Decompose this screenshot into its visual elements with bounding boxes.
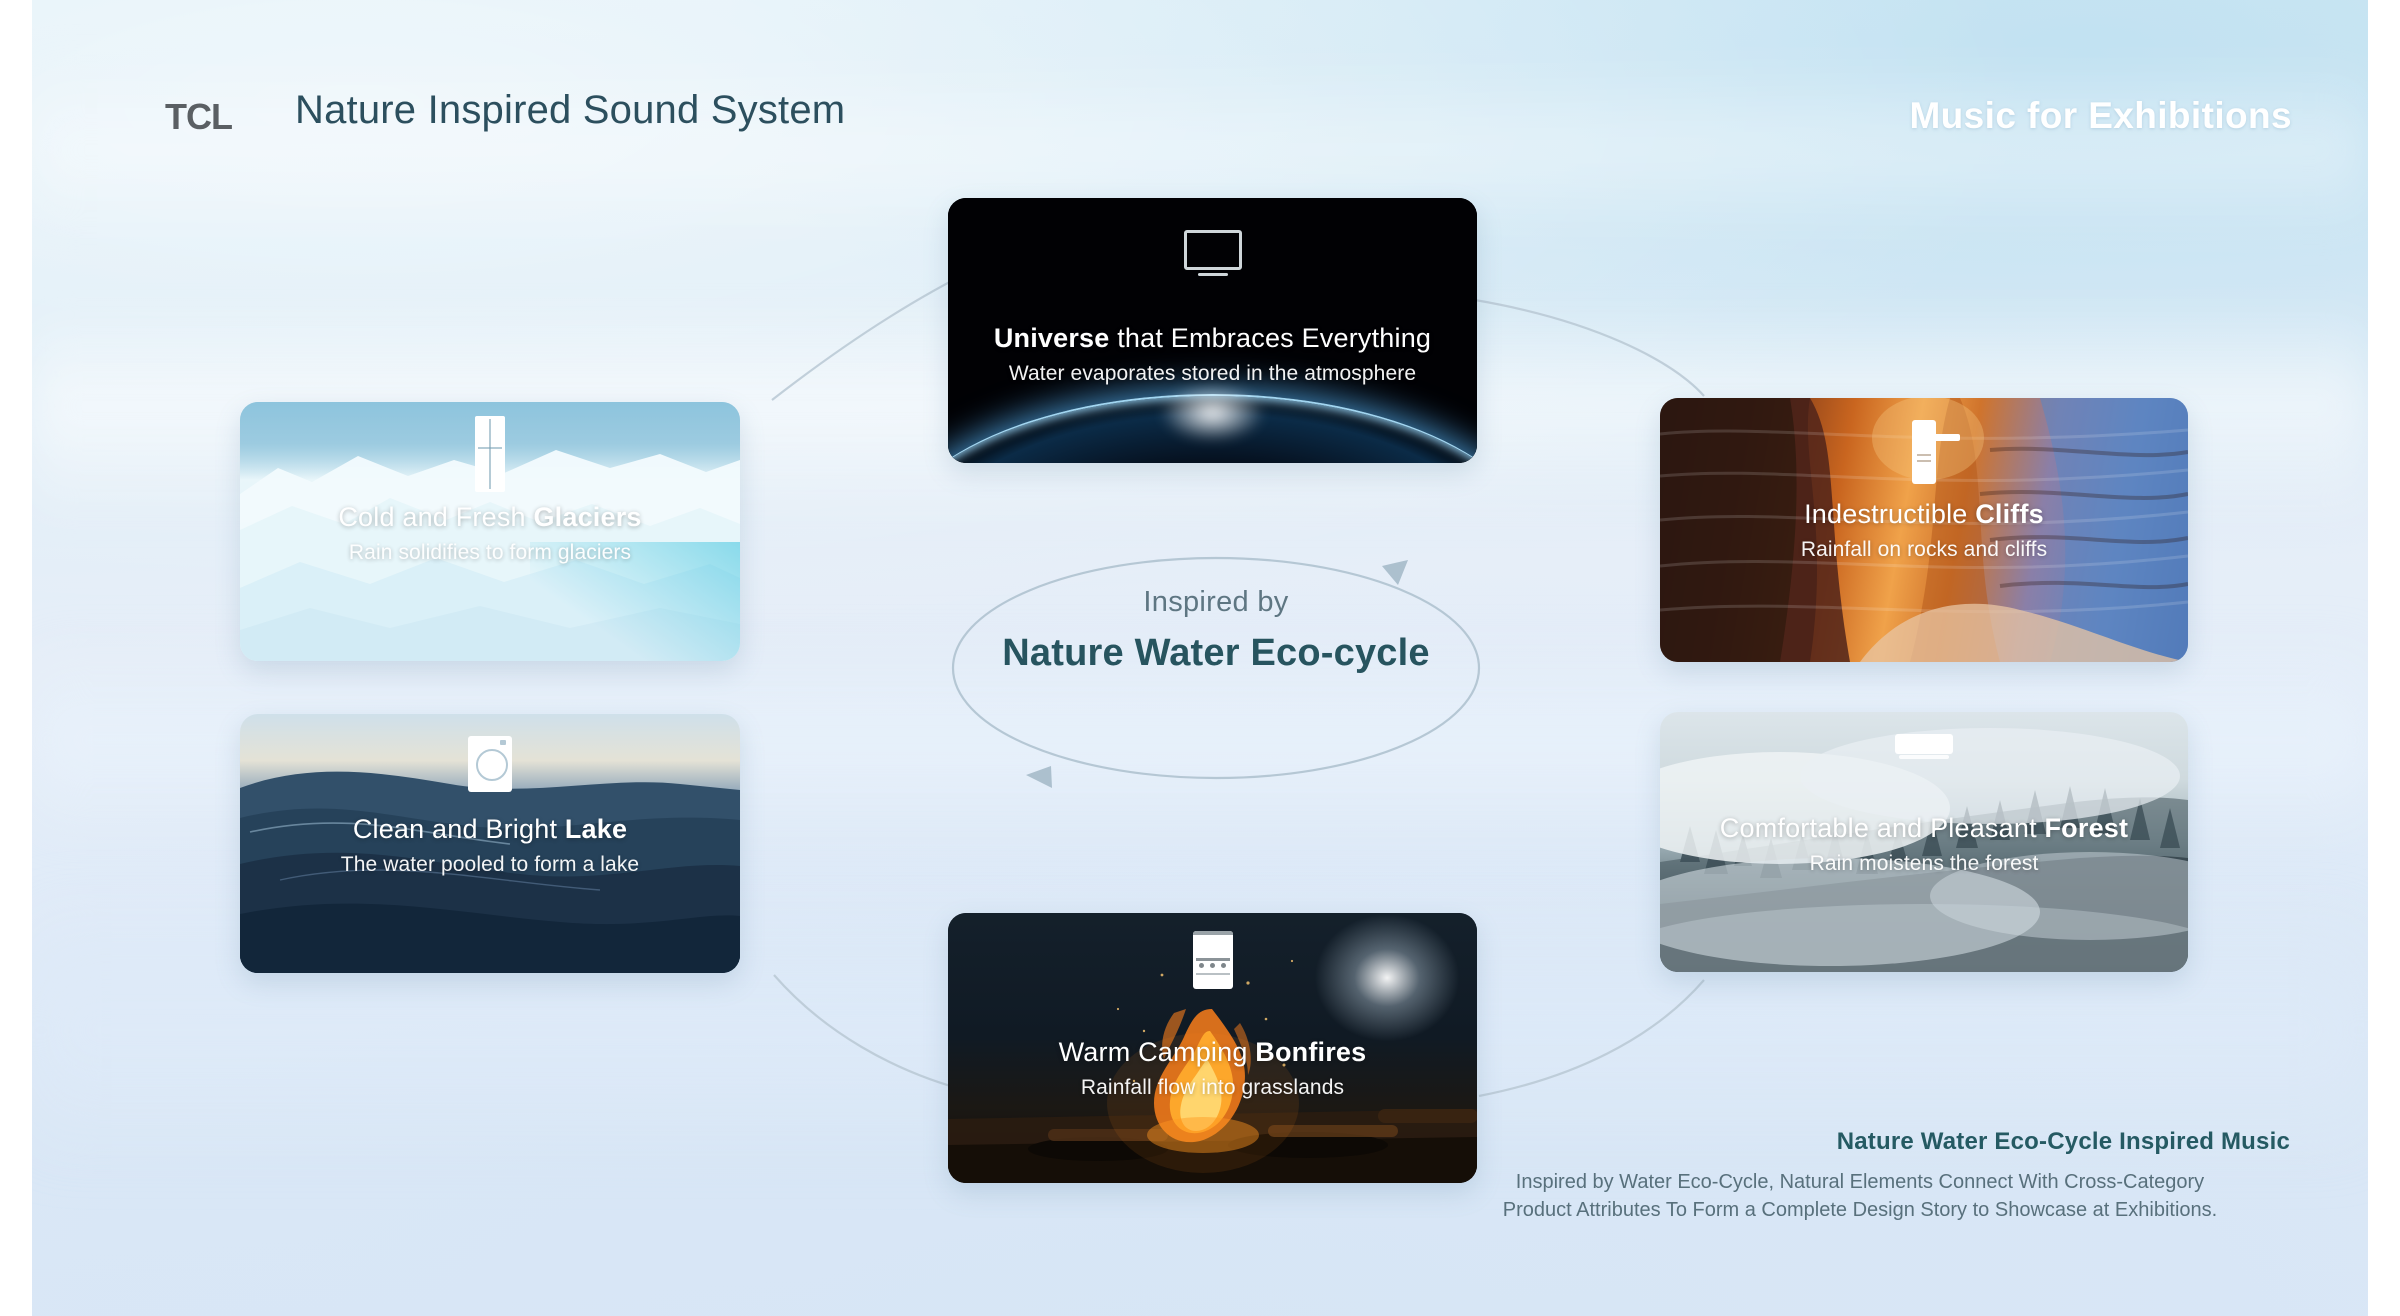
footer-description: Inspired by Water Eco-Cycle, Natural Ele…: [1430, 1168, 2290, 1225]
forest-caption: Comfortable and Pleasant Forest Rain moi…: [1660, 812, 2188, 876]
arc-glaciers-to-universe: [772, 268, 977, 400]
tv-icon: [1184, 230, 1242, 270]
bonfires-subtitle: Rainfall flow into grasslands: [948, 1076, 1477, 1100]
card-glaciers[interactable]: Cold and Fresh Glaciers Rain solidifies …: [240, 402, 740, 661]
footer-line-1: Inspired by Water Eco-Cycle, Natural Ele…: [1430, 1168, 2290, 1196]
exhibition-title: Music for Exhibitions: [1909, 95, 2292, 137]
glaciers-title: Cold and Fresh Glaciers: [240, 501, 740, 535]
forest-title: Comfortable and Pleasant Forest: [1660, 812, 2188, 846]
universe-title: Universe that Embraces Everything: [948, 322, 1477, 356]
glaciers-subtitle: Rain solidifies to form glaciers: [240, 541, 740, 565]
arc-bonfires-to-lake: [774, 975, 972, 1092]
tcl-logo: TCL: [165, 96, 232, 138]
universe-caption: Universe that Embraces Everything Water …: [948, 322, 1477, 386]
cliffs-subtitle: Rainfall on rocks and cliffs: [1660, 538, 2188, 562]
water-heater-icon: [1912, 420, 1936, 484]
universe-subtitle: Water evaporates stored in the atmospher…: [948, 362, 1477, 386]
bonfires-caption: Warm Camping Bonfires Rainfall flow into…: [948, 1036, 1477, 1100]
page-title: Nature Inspired Sound System: [295, 88, 845, 133]
lake-subtitle: The water pooled to form a lake: [240, 853, 740, 877]
cliffs-title: Indestructible Cliffs: [1660, 498, 2188, 532]
oven-icon: [1193, 931, 1233, 989]
glaciers-caption: Cold and Fresh Glaciers Rain solidifies …: [240, 501, 740, 565]
lake-title: Clean and Bright Lake: [240, 813, 740, 847]
card-forest[interactable]: Comfortable and Pleasant Forest Rain moi…: [1660, 712, 2188, 972]
center-title: Nature Water Eco-cycle: [951, 632, 1481, 675]
forest-subtitle: Rain moistens the forest: [1660, 852, 2188, 876]
refrigerator-icon: [475, 416, 505, 492]
center-label: Inspired by Nature Water Eco-cycle: [951, 586, 1481, 761]
air-conditioner-icon: [1895, 734, 1953, 754]
washing-machine-icon: [468, 736, 512, 792]
ellipse-arrow-top: [1382, 560, 1408, 585]
arc-forest-to-bonfires: [1479, 980, 1704, 1096]
lake-caption: Clean and Bright Lake The water pooled t…: [240, 813, 740, 877]
card-universe[interactable]: Universe that Embraces Everything Water …: [948, 198, 1477, 463]
card-lake[interactable]: Clean and Bright Lake The water pooled t…: [240, 714, 740, 973]
slide-canvas: TCL Nature Inspired Sound System Music f…: [32, 0, 2368, 1316]
footer-title: Nature Water Eco-Cycle Inspired Music: [1837, 1128, 2290, 1156]
footer-line-2: Product Attributes To Form a Complete De…: [1430, 1196, 2290, 1224]
cliffs-caption: Indestructible Cliffs Rainfall on rocks …: [1660, 498, 2188, 562]
arc-universe-to-cliffs: [1475, 300, 1704, 396]
center-eyebrow: Inspired by: [951, 586, 1481, 619]
card-cliffs[interactable]: Indestructible Cliffs Rainfall on rocks …: [1660, 398, 2188, 662]
bonfires-title: Warm Camping Bonfires: [948, 1036, 1477, 1070]
ellipse-arrow-bottom: [1026, 766, 1052, 788]
card-bonfires[interactable]: Warm Camping Bonfires Rainfall flow into…: [948, 913, 1477, 1183]
